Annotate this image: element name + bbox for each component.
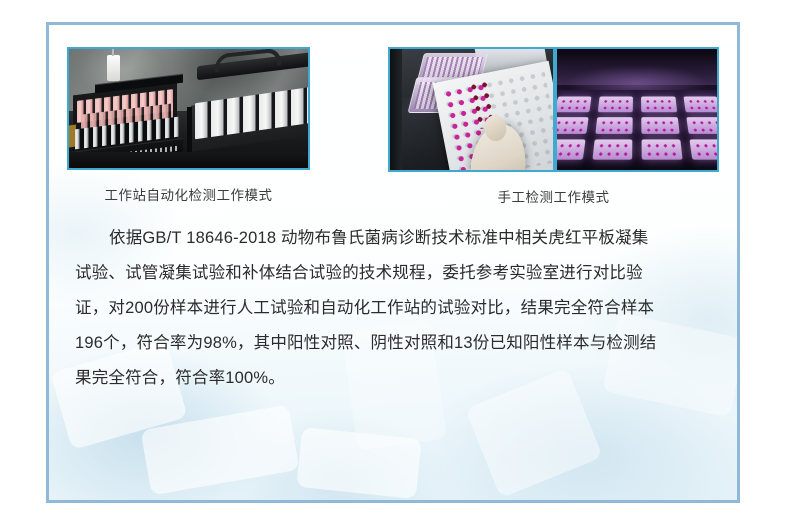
description-paragraph: 依据GB/T 18646-2018 动物布鲁氏菌病诊断技术标准中相关虎红平板凝集… [49, 221, 737, 396]
photo-detail-left-edge [390, 49, 402, 170]
photo-detail-plate [555, 139, 585, 159]
photo-detail-plate [555, 116, 589, 133]
photo-detail-plate [685, 116, 719, 133]
paragraph-line: 证，对200份样本进行人工试验和自动化工作站的试验对比，结果完全符合样本 [75, 291, 711, 326]
photo-detail-plate [555, 96, 591, 111]
content-panel: 工作站自动化检测工作模式 [46, 22, 740, 503]
photo-detail-plate [592, 139, 632, 159]
product-detail-page: 工作站自动化检测工作模式 [0, 0, 790, 517]
photo-detail-hanging-tag [107, 55, 120, 81]
photo-detail-plate [595, 116, 633, 133]
photo-row-right [388, 47, 719, 172]
workstation-deck-photo [67, 47, 310, 170]
figure-row: 工作站自动化检测工作模式 [49, 25, 737, 206]
figure-automated-workstation: 工作站自动化检测工作模式 [67, 47, 310, 206]
figure-manual-testing: 手工检测工作模式 [388, 47, 719, 206]
paragraph-line: 果完全符合，符合率100%。 [75, 361, 711, 396]
paragraph-line: 试验、试管凝集试验和补体结合试验的技术规程，委托参考实验室进行对比验 [75, 256, 711, 291]
photo-detail-foreground-shadow [69, 152, 308, 168]
photo-detail-plate [683, 96, 719, 111]
uv-reader-plates-photo [555, 47, 719, 172]
manual-plate-hand-photo [388, 47, 555, 172]
photo-detail-plate [689, 139, 719, 159]
photo-row-left [67, 47, 310, 170]
paragraph-line: 196个，符合率为98%，其中阳性对照、阴性对照和13份已知阳性样本与检测结 [75, 326, 711, 361]
photo-detail-plate [598, 96, 633, 111]
photo-detail-plate [641, 116, 679, 133]
photo-detail-plate [641, 96, 676, 111]
paragraph-line: 依据GB/T 18646-2018 动物布鲁氏菌病诊断技术标准中相关虎红平板凝集 [75, 221, 711, 256]
photo-detail-plate-grid [555, 93, 719, 164]
photo-detail-plate [642, 139, 682, 159]
figure-caption-manual: 手工检测工作模式 [498, 186, 610, 206]
figure-caption-automated: 工作站自动化检测工作模式 [105, 184, 273, 204]
